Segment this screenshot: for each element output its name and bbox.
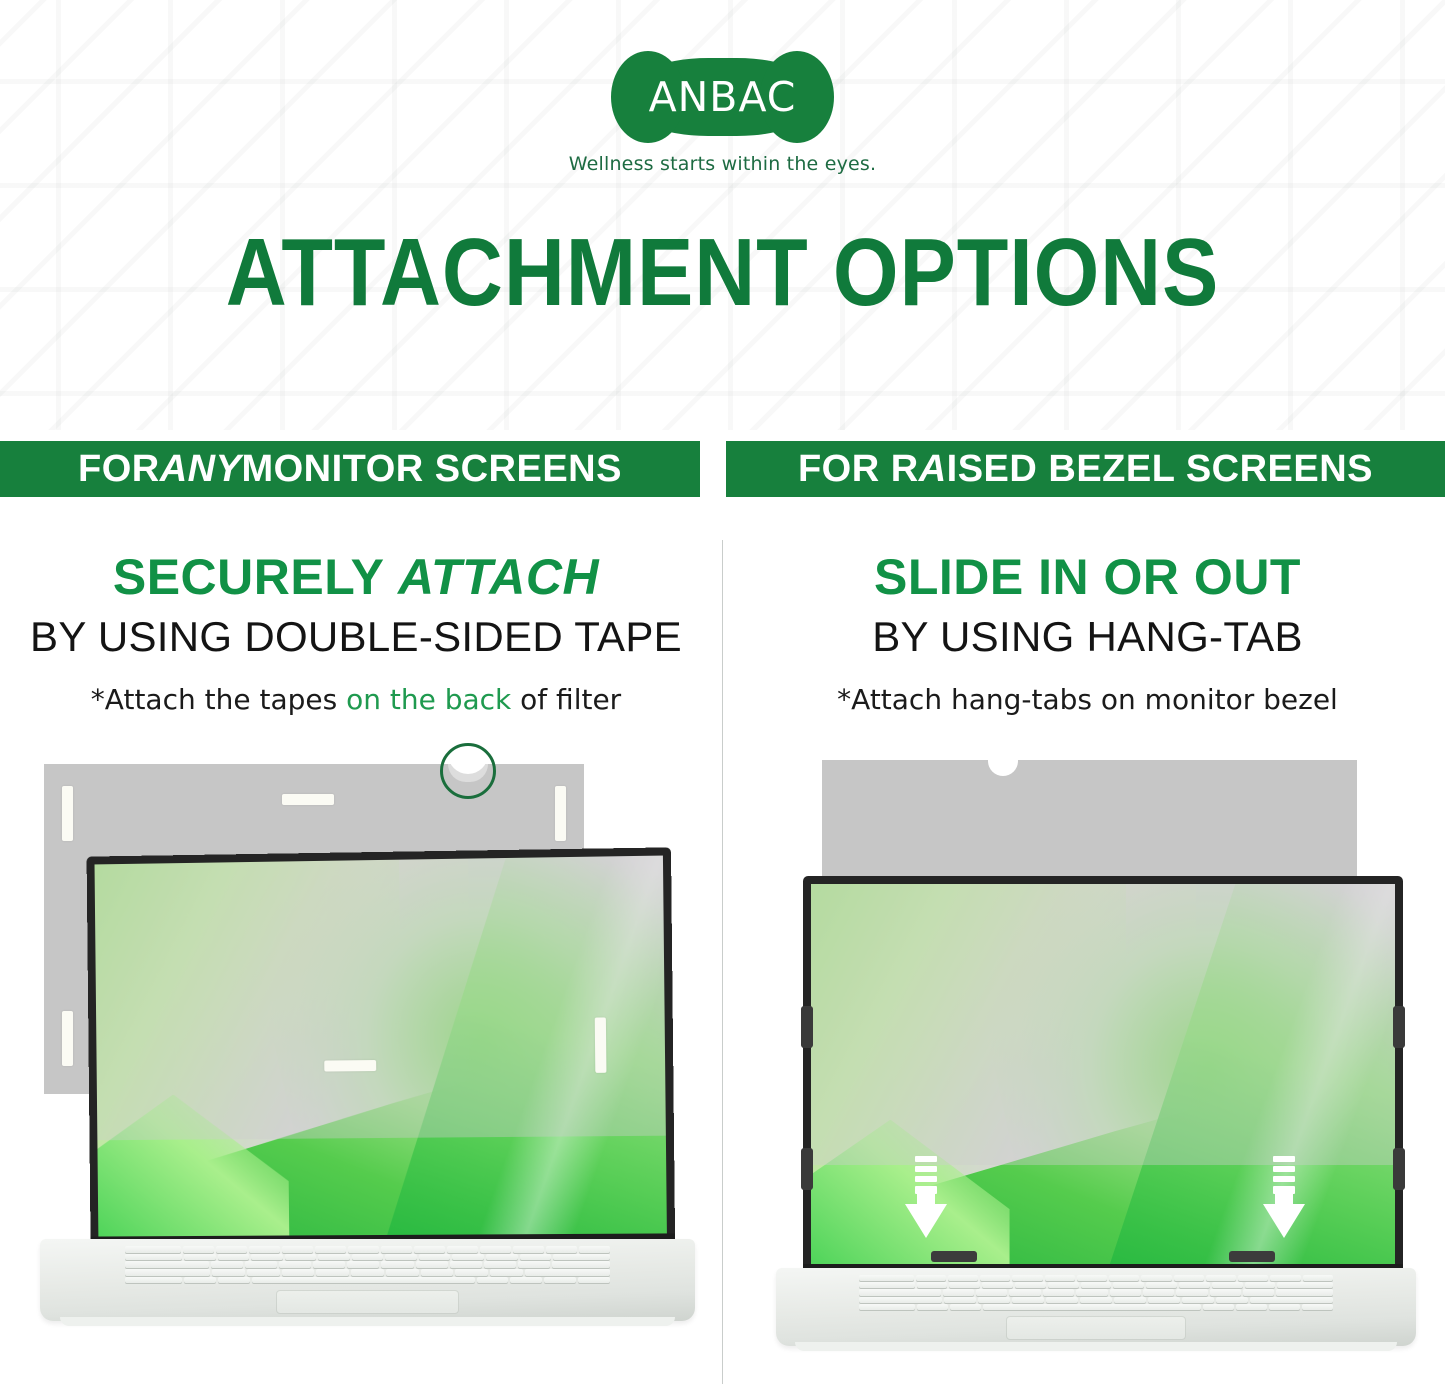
laptop-keyboard (125, 1246, 610, 1284)
column-right-text: SLIDE IN OR OUT BY USING HANG-TAB *Attac… (730, 548, 1445, 716)
section-bar-raised-bezel: FOR RAISED BEZEL SCREENS (726, 441, 1445, 497)
brand-tagline: Wellness starts within the eyes. (0, 153, 1445, 175)
hangtab-bottom-right (1229, 1251, 1275, 1262)
left-note-part2: of filter (511, 683, 621, 716)
tape-strip-center-front (324, 1060, 376, 1072)
bar-label-part1: FOR (78, 448, 160, 491)
column-divider (722, 540, 723, 1384)
infographic-page: ANBAC Wellness starts within the eyes. A… (0, 0, 1445, 1384)
laptop-lid (87, 847, 676, 1248)
laptop-screen (811, 884, 1395, 1264)
right-heading: SLIDE IN OR OUT (730, 548, 1445, 606)
page-title: ATTACHMENT OPTIONS (87, 225, 1359, 321)
laptop-trackpad (276, 1290, 459, 1315)
tape-strip-top-left (62, 786, 73, 841)
brand-logo: ANBAC Wellness starts within the eyes. (0, 58, 1445, 175)
left-heading-plain: SECURELY (113, 549, 398, 605)
right-note: *Attach hang-tabs on monitor bezel (730, 683, 1445, 716)
right-note-part1: *Attach hang-tabs on monitor bezel (837, 683, 1338, 716)
left-subheading: BY USING DOUBLE-SIDED TAPE (0, 613, 712, 661)
laptop-keyboard (859, 1275, 1333, 1311)
left-note: *Attach the tapes on the back of filter (0, 683, 712, 716)
section-bar-any-monitor: FOR ANY MONITOR SCREENS (0, 441, 700, 497)
tape-strip-top-right (555, 786, 566, 841)
slide-down-arrow-right-icon (1261, 1154, 1307, 1240)
tape-strip-right-front (595, 1017, 607, 1072)
webcam-cutout-notch (988, 760, 1018, 776)
right-subheading: BY USING HANG-TAB (730, 613, 1445, 661)
bar-label-part1: FOR R (798, 448, 919, 491)
left-heading: SECURELY ATTACH (0, 548, 712, 606)
right-heading-plain: SLIDE IN OR OUT (874, 549, 1301, 605)
left-heading-emphasis: ATTACH (398, 549, 599, 605)
illustration-tape-attachment (32, 752, 702, 1312)
tape-strip-top-center (282, 794, 334, 805)
left-note-part1: *Attach the tapes (91, 683, 346, 716)
screen-wallpaper (811, 884, 1395, 1264)
laptop-lid (803, 876, 1403, 1276)
logo-wordmark: ANBAC (620, 58, 825, 136)
laptop-base (776, 1268, 1416, 1346)
bar-label-part2: ISED BEZEL SCREENS (947, 448, 1373, 491)
privacy-filter-sheet (822, 760, 1357, 882)
left-note-highlight: on the back (346, 683, 511, 716)
laptop-screen (95, 856, 667, 1237)
logo-blob-shape: ANBAC (620, 58, 825, 136)
hangtab-right-lower (1393, 1148, 1405, 1190)
hangtab-left-lower (801, 1148, 813, 1190)
hangtab-right-upper (1393, 1006, 1405, 1048)
screen-wallpaper (95, 856, 667, 1237)
illustration-hangtab-attachment (758, 752, 1428, 1312)
laptop-trackpad (1006, 1316, 1185, 1339)
column-left-text: SECURELY ATTACH BY USING DOUBLE-SIDED TA… (0, 548, 712, 716)
hangtab-bottom-left (931, 1251, 977, 1262)
slide-down-arrow-left-icon (903, 1154, 949, 1240)
laptop-base (40, 1239, 695, 1321)
webcam-marker-circle-icon (440, 743, 496, 799)
bar-label-emphasis: A (919, 448, 947, 491)
hangtab-left-upper (801, 1006, 813, 1048)
tape-strip-bottom-left (62, 1011, 73, 1066)
bar-label-emphasis: ANY (160, 448, 242, 491)
bar-label-part2: MONITOR SCREENS (241, 448, 622, 491)
